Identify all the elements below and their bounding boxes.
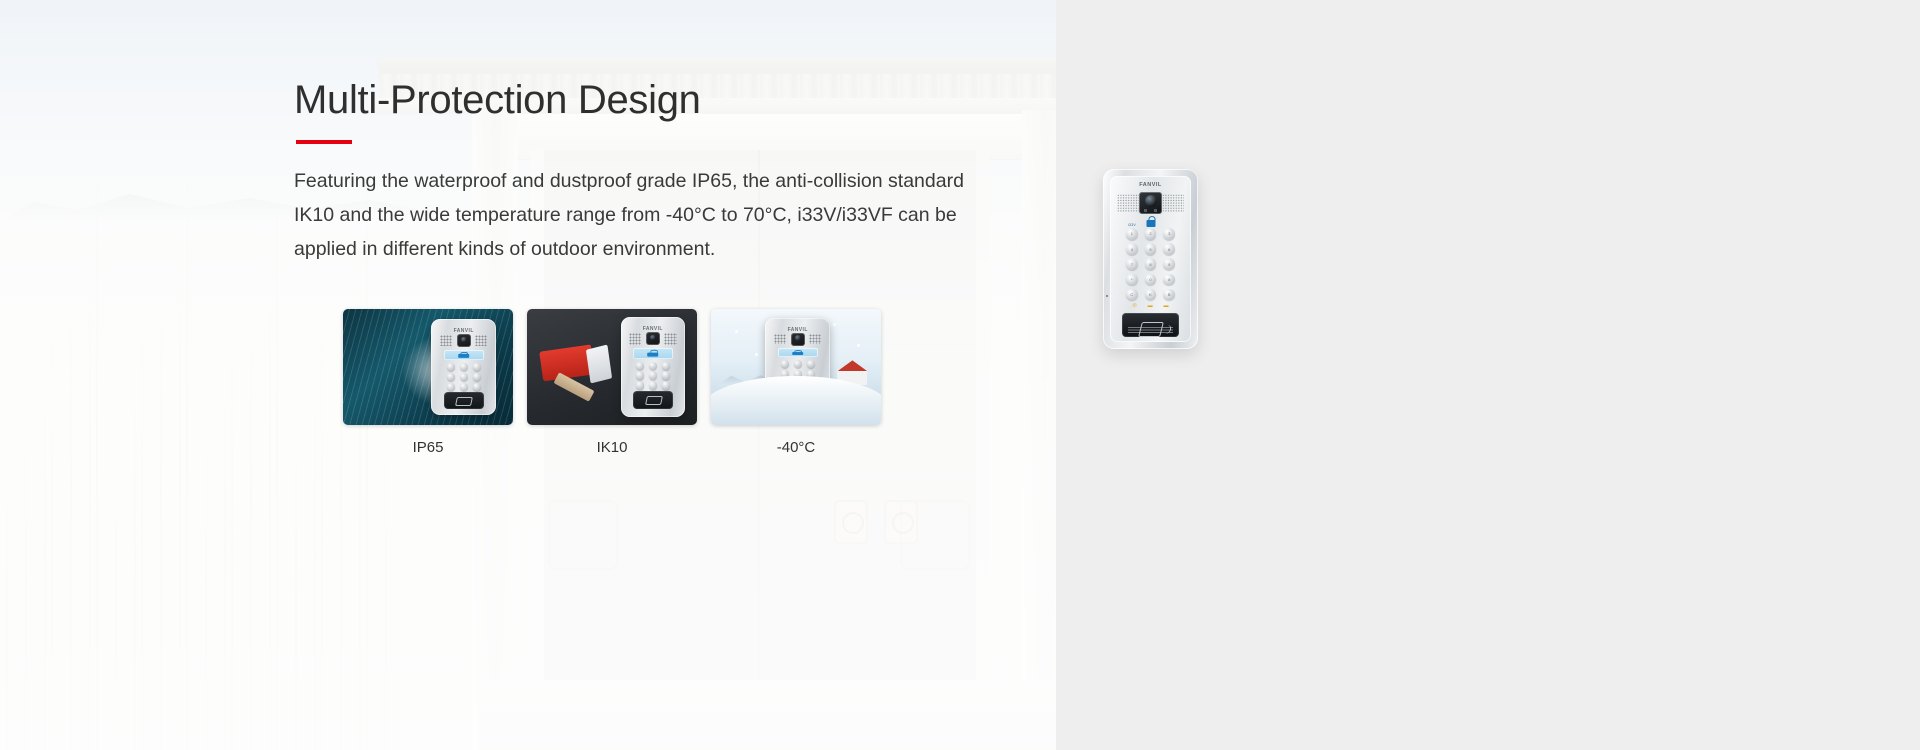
feature-card-cold[interactable]: FANVIL xyxy=(711,309,881,456)
call-key-icon[interactable]: ✆ xyxy=(1132,303,1136,309)
snow-drift xyxy=(711,376,881,425)
speaker-grill-icon xyxy=(664,333,676,345)
snowflake-icon xyxy=(735,330,738,333)
lcd-status-text: i33V xyxy=(1128,223,1136,227)
product-function-row[interactable]: ✆ ▬ ▬ xyxy=(1117,303,1184,309)
device-brand-label: FANVIL xyxy=(440,328,488,334)
product-feature-page: Multi-Protection Design Featuring the wa… xyxy=(0,0,1920,750)
keypad-key-2[interactable]: 2 xyxy=(1145,228,1157,240)
camera-icon xyxy=(791,333,805,346)
keypad-key-6[interactable]: 6 xyxy=(1163,243,1175,255)
keypad-key xyxy=(662,371,670,379)
lock-icon xyxy=(1146,216,1155,227)
keypad-key xyxy=(473,363,481,371)
keypad-key-1[interactable]: 1 xyxy=(1126,228,1138,240)
keypad-key xyxy=(794,360,802,368)
keypad-key xyxy=(636,362,644,370)
keypad-key xyxy=(473,373,481,381)
rfid-reader-panel[interactable] xyxy=(1122,313,1179,337)
camera-led-icon xyxy=(1144,209,1147,212)
device-brand-label: FANVIL xyxy=(774,327,822,333)
feature-copy-block: Multi-Protection Design Featuring the wa… xyxy=(294,78,1024,266)
thumbnail-image-ik10[interactable]: FANVIL xyxy=(527,309,697,425)
rfid-reader-icon xyxy=(444,392,484,409)
device-keypad xyxy=(629,362,677,387)
thumbnail-caption: -40°C xyxy=(711,439,881,456)
keypad-key-K[interactable]: K xyxy=(1145,289,1157,301)
speaker-grill-icon xyxy=(1162,194,1184,212)
keypad-key xyxy=(649,381,657,389)
status-led-icon xyxy=(1106,295,1108,297)
device-keypad xyxy=(440,363,488,388)
intercom-device-icon: FANVIL xyxy=(621,317,686,417)
product-panel: FANVIL i33V 123456789*0#CKB ✆ ▬ xyxy=(1056,0,1920,750)
device-lcd-screen xyxy=(444,350,484,360)
feature-card-ik10[interactable]: FANVIL xyxy=(527,309,697,456)
keypad-key xyxy=(447,363,455,371)
product-top-row xyxy=(1117,192,1184,214)
keypad-key-*[interactable]: * xyxy=(1126,274,1138,286)
device-lcd-screen xyxy=(778,348,818,358)
lock-icon xyxy=(457,352,471,358)
thumbnail-caption: IP65 xyxy=(343,439,513,456)
keypad-key-9[interactable]: 9 xyxy=(1163,258,1175,270)
function-key-icon[interactable]: ▬ xyxy=(1164,303,1169,309)
keypad-key xyxy=(460,373,468,381)
keypad-key xyxy=(662,381,670,389)
keypad-key xyxy=(460,383,468,391)
camera-icon xyxy=(1139,192,1163,214)
keypad-key xyxy=(649,371,657,379)
keypad-key xyxy=(649,362,657,370)
keypad-key-7[interactable]: 7 xyxy=(1126,258,1138,270)
axe-blade-icon xyxy=(586,345,612,384)
keypad-key xyxy=(636,371,644,379)
speaker-grill-icon xyxy=(440,335,452,346)
title-underline-accent xyxy=(296,140,352,144)
feature-thumbnail-row: FANVIL xyxy=(343,309,881,456)
keypad-key xyxy=(473,383,481,391)
keypad-key xyxy=(807,360,815,368)
speaker-grill-icon xyxy=(475,335,487,346)
keypad-key xyxy=(781,360,789,368)
device-top-row xyxy=(774,334,822,344)
camera-sensor-icon xyxy=(1154,209,1157,212)
device-lcd-screen xyxy=(633,348,673,359)
keypad-key-8[interactable]: 8 xyxy=(1145,258,1157,270)
keypad-key-0[interactable]: 0 xyxy=(1145,274,1157,286)
device-top-row xyxy=(440,335,488,346)
product-fineprint xyxy=(1128,327,1173,334)
keypad-key-#[interactable]: # xyxy=(1163,274,1175,286)
feature-card-ip65[interactable]: FANVIL xyxy=(343,309,513,456)
speaker-grill-icon xyxy=(774,334,786,344)
lock-icon xyxy=(646,350,660,357)
keypad-key xyxy=(447,373,455,381)
device-top-row xyxy=(629,333,677,345)
product-faceplate: FANVIL i33V 123456789*0#CKB ✆ ▬ xyxy=(1110,176,1191,342)
device-brand-label: FANVIL xyxy=(629,326,677,332)
keypad-key xyxy=(636,381,644,389)
keypad-key-B[interactable]: B xyxy=(1163,289,1175,301)
camera-icon xyxy=(457,334,471,347)
keypad-key xyxy=(447,383,455,391)
keypad-key xyxy=(662,362,670,370)
product-brand-label: FANVIL xyxy=(1117,182,1184,188)
function-key-icon[interactable]: ▬ xyxy=(1148,303,1153,309)
speaker-grill-icon xyxy=(1117,194,1139,212)
keypad-key-3[interactable]: 3 xyxy=(1163,228,1175,240)
lock-icon xyxy=(791,350,805,356)
intercom-device-icon: FANVIL xyxy=(431,319,496,414)
thumbnail-image-cold[interactable]: FANVIL xyxy=(711,309,881,425)
rfid-reader-icon xyxy=(633,391,673,409)
keypad-key xyxy=(460,363,468,371)
speaker-grill-icon xyxy=(809,334,821,344)
page-title: Multi-Protection Design xyxy=(294,78,1024,122)
feature-description: Featuring the waterproof and dustproof g… xyxy=(294,164,1006,266)
keypad-key-C[interactable]: C xyxy=(1126,289,1138,301)
keypad-key-4[interactable]: 4 xyxy=(1126,243,1138,255)
thumbnail-image-ip65[interactable]: FANVIL xyxy=(343,309,513,425)
product-hero-image[interactable]: FANVIL i33V 123456789*0#CKB ✆ ▬ xyxy=(1103,169,1198,349)
keypad-key-5[interactable]: 5 xyxy=(1145,243,1157,255)
product-keypad[interactable]: 123456789*0#CKB xyxy=(1117,228,1184,300)
thumbnail-caption: IK10 xyxy=(527,439,697,456)
snowflake-icon xyxy=(857,344,860,347)
camera-icon xyxy=(646,332,660,345)
speaker-grill-icon xyxy=(629,333,641,345)
